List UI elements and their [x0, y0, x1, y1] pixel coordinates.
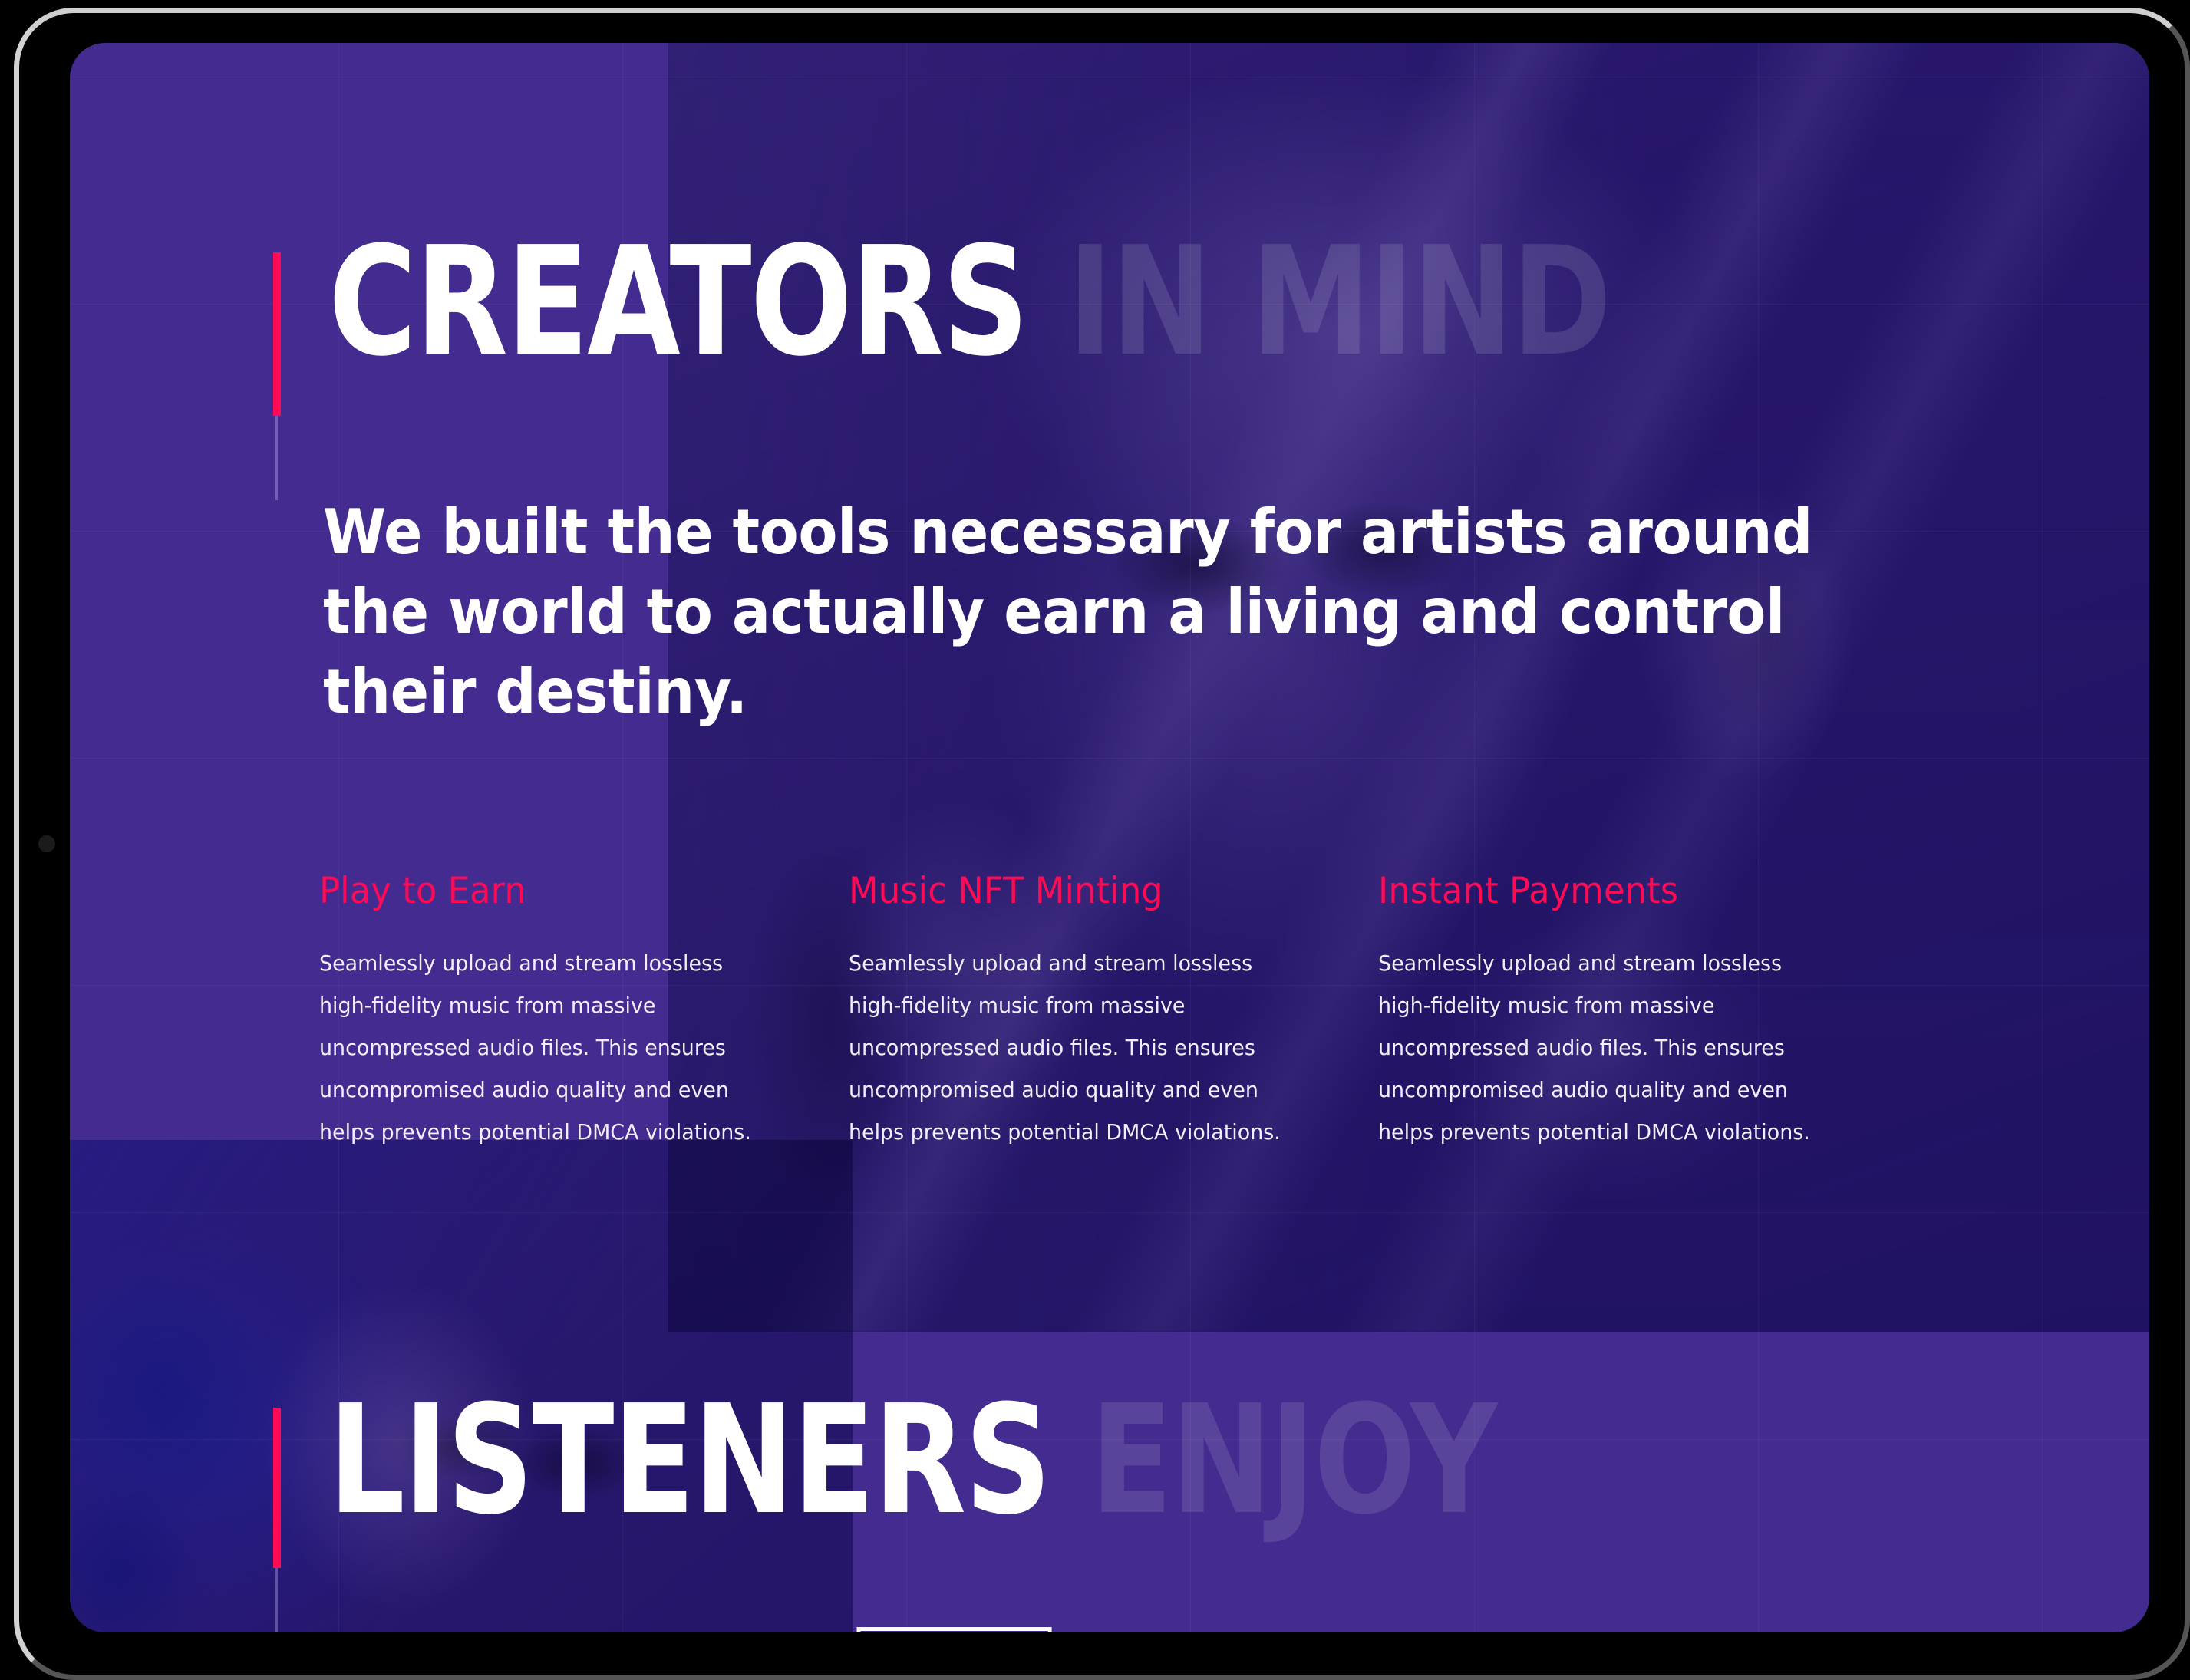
listeners-lead-selected-word[interactable]: music — [857, 1627, 1051, 1632]
feature-body: Seamlessly upload and stream lossless hi… — [849, 943, 1283, 1153]
creators-lead-paragraph: We built the tools necessary for artists… — [323, 492, 1878, 732]
creators-accent-rule-pink — [273, 252, 281, 416]
tablet-device: CREATORS IN MIND CREATORS We built the t… — [14, 8, 2190, 1680]
creators-feature-columns: Play to Earn Seamlessly upload and strea… — [319, 870, 2030, 1153]
creators-accent-rule-tail — [275, 416, 278, 500]
listeners-lead-prefix: Find hyper-local — [323, 1631, 857, 1632]
listeners-lead-suffix: from diverse — [1051, 1631, 1476, 1632]
feature-card-instant-payments: Instant Payments Seamlessly upload and s… — [1378, 870, 1908, 1153]
creators-solid-heading: CREATORS — [328, 241, 1027, 364]
listeners-accent-rule-tail — [275, 1568, 278, 1632]
feature-card-play-to-earn: Play to Earn Seamlessly upload and strea… — [319, 870, 849, 1153]
creators-heading-row: CREATORS IN MIND CREATORS — [328, 241, 1931, 402]
listeners-lead-paragraph: Find hyper-local music from diverse — [323, 1627, 1893, 1632]
listeners-accent-rule-pink — [273, 1408, 281, 1568]
feature-title: Music NFT Minting — [849, 870, 1352, 912]
listeners-solid-heading: LISTENERS — [328, 1399, 1050, 1523]
feature-body: Seamlessly upload and stream lossless hi… — [1378, 943, 1812, 1153]
listeners-heading-row: LISTENERS ENJOY LISTENERS — [328, 1399, 1788, 1560]
feature-card-music-nft-minting: Music NFT Minting Seamlessly upload and … — [849, 870, 1378, 1153]
page-content: CREATORS IN MIND CREATORS We built the t… — [70, 43, 2149, 1632]
feature-title: Play to Earn — [319, 870, 823, 912]
front-camera-dot — [38, 835, 55, 852]
tablet-screen: CREATORS IN MIND CREATORS We built the t… — [70, 43, 2149, 1632]
creators-accent-rule — [273, 252, 281, 500]
feature-title: Instant Payments — [1378, 870, 1882, 912]
listeners-accent-rule — [273, 1408, 281, 1632]
feature-body: Seamlessly upload and stream lossless hi… — [319, 943, 754, 1153]
